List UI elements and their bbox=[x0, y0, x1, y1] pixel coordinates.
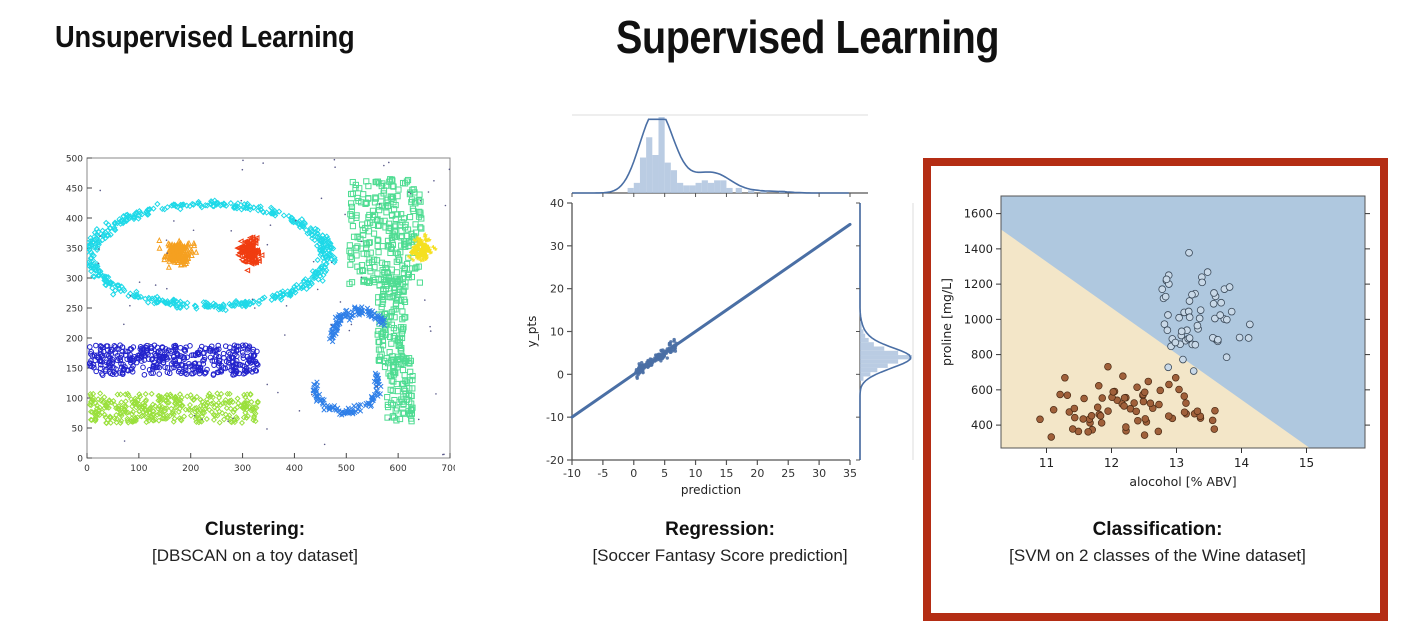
svg-text:10: 10 bbox=[550, 326, 564, 339]
svg-text:800: 800 bbox=[971, 348, 993, 362]
clustering-plot-svg: 0501001502002503003504004505000100200300… bbox=[55, 150, 455, 500]
svg-text:700: 700 bbox=[441, 464, 455, 474]
caption-clustering-subtitle: [DBSCAN on a toy dataset] bbox=[45, 545, 465, 567]
svg-text:1200: 1200 bbox=[964, 277, 993, 291]
svg-text:350: 350 bbox=[66, 245, 83, 255]
regression-plot-svg: -20-10010203040-10-505101520253035predic… bbox=[520, 105, 915, 500]
svg-text:20: 20 bbox=[750, 467, 764, 480]
caption-classification: Classification: [SVM on 2 classes of the… bbox=[945, 517, 1370, 568]
page-title-unsupervised: Unsupervised Learning bbox=[55, 19, 354, 55]
caption-clustering: Clustering: [DBSCAN on a toy dataset] bbox=[45, 517, 465, 568]
svg-text:10: 10 bbox=[689, 467, 703, 480]
svg-text:40: 40 bbox=[550, 197, 564, 210]
svg-text:200: 200 bbox=[66, 335, 83, 345]
svg-text:14: 14 bbox=[1234, 456, 1249, 470]
svg-text:0: 0 bbox=[77, 455, 83, 465]
svg-text:0: 0 bbox=[557, 368, 564, 381]
svg-text:alocohol [% ABV]: alocohol [% ABV] bbox=[1129, 474, 1236, 489]
svg-text:1400: 1400 bbox=[964, 242, 993, 256]
svg-text:400: 400 bbox=[971, 418, 993, 432]
svg-text:400: 400 bbox=[66, 215, 83, 225]
svg-text:50: 50 bbox=[72, 425, 84, 435]
svg-text:15: 15 bbox=[1299, 456, 1314, 470]
caption-clustering-title: Clustering: bbox=[45, 517, 465, 542]
svg-text:-10: -10 bbox=[563, 467, 581, 480]
svg-text:0: 0 bbox=[84, 464, 90, 474]
clustering-chart: 0501001502002503003504004505000100200300… bbox=[55, 150, 455, 500]
svg-text:1000: 1000 bbox=[964, 312, 993, 326]
svg-text:1600: 1600 bbox=[964, 207, 993, 221]
svg-text:500: 500 bbox=[338, 464, 355, 474]
svg-text:-5: -5 bbox=[597, 467, 608, 480]
caption-regression-subtitle: [Soccer Fantasy Score prediction] bbox=[520, 545, 920, 567]
caption-regression-title: Regression: bbox=[520, 517, 920, 542]
svg-text:proline [mg/L]: proline [mg/L] bbox=[939, 278, 954, 366]
svg-text:200: 200 bbox=[182, 464, 199, 474]
svg-text:35: 35 bbox=[843, 467, 857, 480]
svg-text:5: 5 bbox=[661, 467, 668, 480]
svg-text:500: 500 bbox=[66, 155, 83, 165]
svg-text:300: 300 bbox=[234, 464, 251, 474]
caption-regression: Regression: [Soccer Fantasy Score predic… bbox=[520, 517, 920, 568]
svg-text:100: 100 bbox=[66, 395, 83, 405]
svg-text:150: 150 bbox=[66, 365, 83, 375]
page-title-supervised: Supervised Learning bbox=[616, 10, 999, 64]
svg-text:250: 250 bbox=[66, 305, 83, 315]
svg-text:400: 400 bbox=[286, 464, 303, 474]
svg-text:-10: -10 bbox=[546, 411, 564, 424]
svg-text:30: 30 bbox=[812, 467, 826, 480]
svg-text:100: 100 bbox=[130, 464, 147, 474]
svg-text:y_pts: y_pts bbox=[525, 316, 539, 348]
svg-text:20: 20 bbox=[550, 283, 564, 296]
svg-text:600: 600 bbox=[390, 464, 407, 474]
svg-text:13: 13 bbox=[1169, 456, 1184, 470]
svg-text:600: 600 bbox=[971, 383, 993, 397]
regression-chart: -20-10010203040-10-505101520253035predic… bbox=[520, 105, 915, 500]
svg-text:12: 12 bbox=[1104, 456, 1119, 470]
svg-text:prediction: prediction bbox=[681, 483, 741, 497]
svg-text:25: 25 bbox=[781, 467, 795, 480]
svg-text:30: 30 bbox=[550, 240, 564, 253]
svg-text:11: 11 bbox=[1039, 456, 1054, 470]
svg-text:0: 0 bbox=[630, 467, 637, 480]
caption-classification-title: Classification: bbox=[945, 517, 1370, 542]
svg-text:-20: -20 bbox=[546, 454, 564, 467]
svg-text:450: 450 bbox=[66, 185, 83, 195]
svg-text:15: 15 bbox=[719, 467, 733, 480]
svg-text:300: 300 bbox=[66, 275, 83, 285]
caption-classification-subtitle: [SVM on 2 classes of the Wine dataset] bbox=[945, 545, 1370, 567]
